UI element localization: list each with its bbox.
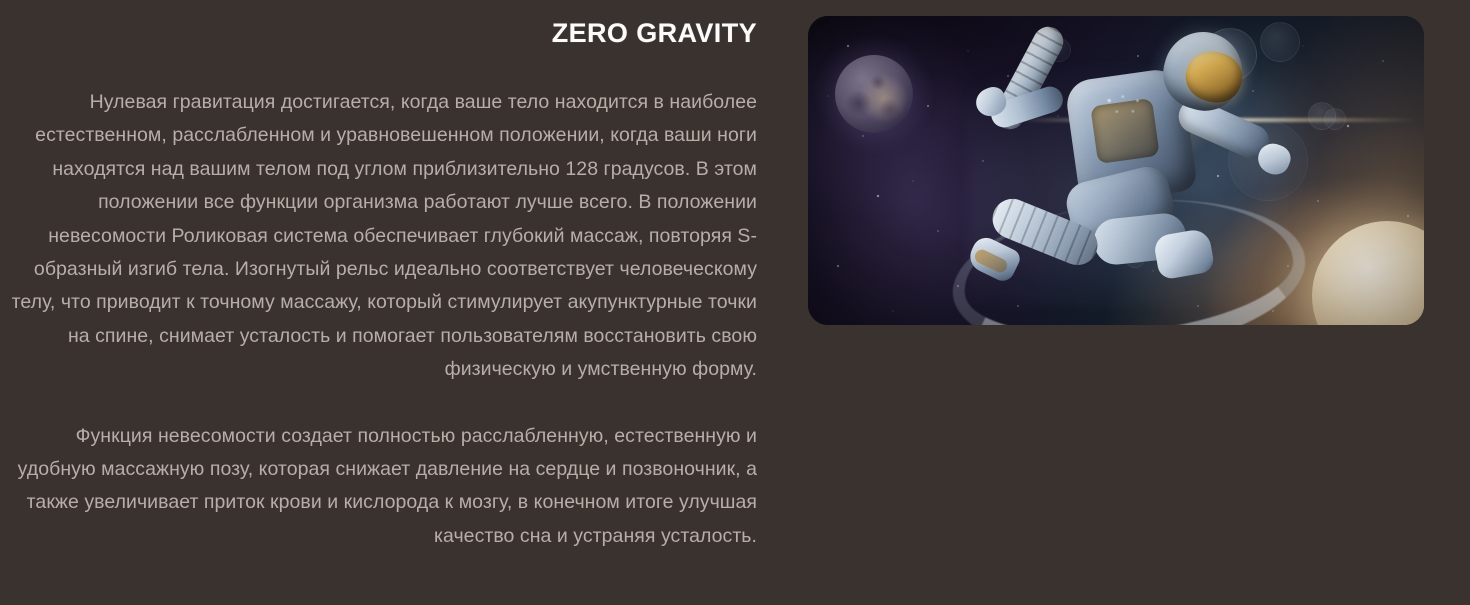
paragraph-1: Нулевая гравитация достигается, когда ва… (0, 86, 757, 387)
astronaut-figure (928, 16, 1328, 325)
paragraph-2: Функция невесомости создает полностью ра… (0, 420, 757, 554)
zero-gravity-section: ZERO GRAVITY Нулевая гравитация достигае… (0, 0, 1470, 605)
body-copy: Нулевая гравитация достигается, когда ва… (0, 86, 757, 553)
astronaut-image-card (808, 16, 1424, 325)
text-column: ZERO GRAVITY Нулевая гравитация достигае… (0, 0, 757, 605)
astronaut-glow (968, 66, 1288, 306)
moon-icon (835, 55, 913, 133)
page-title: ZERO GRAVITY (0, 16, 757, 50)
